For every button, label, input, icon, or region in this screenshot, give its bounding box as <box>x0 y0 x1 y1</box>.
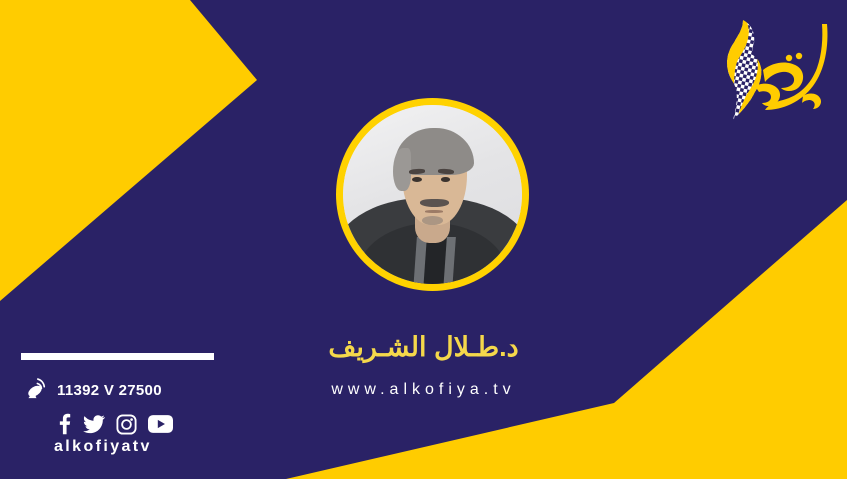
avatar <box>336 98 529 291</box>
avatar-image <box>343 105 522 284</box>
frequency-row: 11392 V 27500 <box>26 377 162 403</box>
divider-bar <box>21 353 214 360</box>
instagram-icon[interactable] <box>116 414 137 435</box>
youtube-icon[interactable] <box>148 415 173 433</box>
facebook-icon[interactable] <box>55 413 72 435</box>
twitter-icon[interactable] <box>83 413 105 435</box>
alkofiya-logo[interactable] <box>703 12 833 127</box>
logo-arabic-wordmark <box>755 24 827 110</box>
social-handle: alkofiyatv <box>54 438 152 456</box>
frequency-text: 11392 V 27500 <box>57 382 162 399</box>
keffiyeh-flame-icon <box>723 12 765 122</box>
left-chevron-shape <box>0 0 257 301</box>
broadcast-lower-third-card: د.طـلال الشـريف www.alkofiya.tv 11392 V … <box>0 0 847 479</box>
social-links <box>55 413 173 435</box>
satellite-dish-icon <box>26 377 52 403</box>
